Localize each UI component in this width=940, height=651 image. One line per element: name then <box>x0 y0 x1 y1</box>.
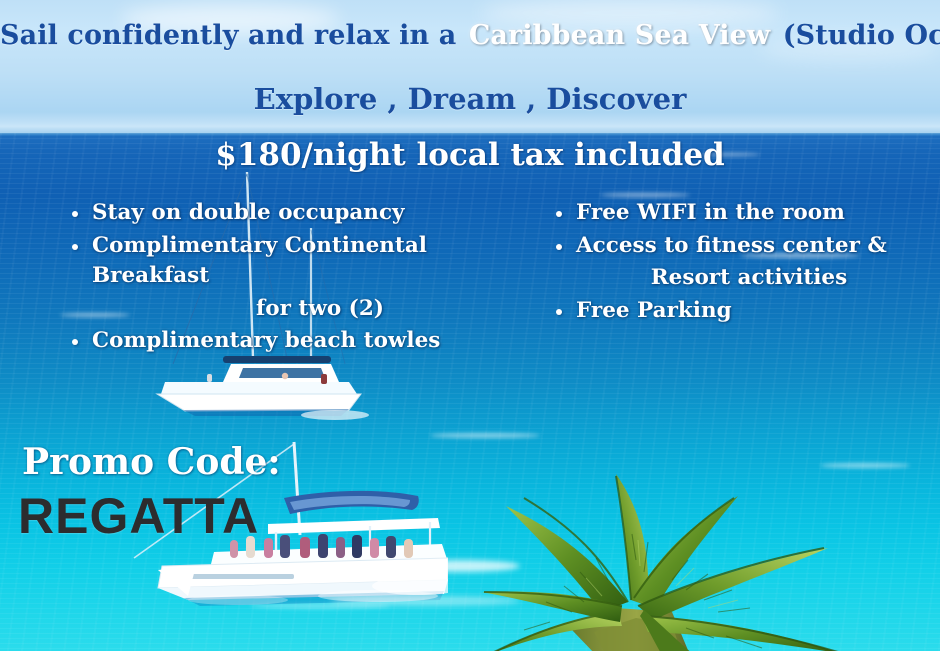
price-line: $180/night local tax included <box>0 137 940 173</box>
water-glint <box>600 193 690 197</box>
amenity-item-continuation: for two (2) <box>68 294 548 325</box>
amenity-item: Complimentary beach towles <box>68 326 548 357</box>
amenity-item: Complimentary Continental Breakfast <box>68 231 548 292</box>
headline: Sail confidently and relax in a Caribbea… <box>0 20 940 51</box>
amenity-item: Free Parking <box>552 296 922 327</box>
tagline: Explore , Dream , Discover <box>0 82 940 116</box>
water-glint <box>430 433 540 438</box>
amenity-item-continuation: Resort activities <box>552 263 922 294</box>
promo-code-value: REGATTA <box>18 487 259 545</box>
amenity-item: Free WIFI in the room <box>552 198 922 229</box>
palm-tree <box>476 440 940 651</box>
amenity-item: Stay on double occupancy <box>68 198 548 229</box>
amenity-text: Resort activities <box>576 263 922 294</box>
amenity-text: for two (2) <box>92 294 548 325</box>
amenities-list-left: Stay on double occupancyComplimentary Co… <box>68 198 548 359</box>
headline-prefix: Sail confidently and relax in a <box>0 20 456 51</box>
amenities-list-right: Free WIFI in the roomAccess to fitness c… <box>552 198 922 328</box>
headline-highlight: Caribbean Sea View <box>466 20 773 51</box>
amenity-item: Access to fitness center & <box>552 231 922 262</box>
headline-suffix: (Studio Ocean View) <box>783 20 940 51</box>
promo-code-label: Promo Code: <box>22 441 281 483</box>
promo-poster: Sail confidently and relax in a Caribbea… <box>0 0 940 651</box>
